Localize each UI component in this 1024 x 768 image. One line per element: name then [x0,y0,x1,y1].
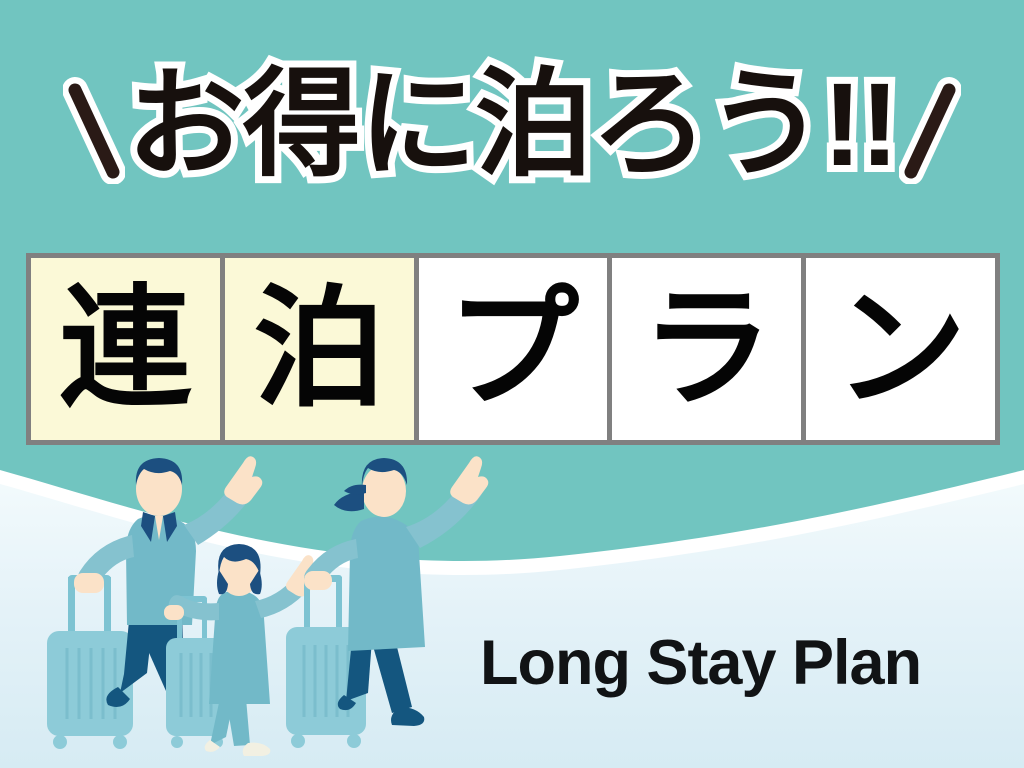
mother-head [334,458,407,517]
headline-text: お得に泊ろう!! [127,66,898,184]
kanji-box-row: 連 泊 プ ラ ン [26,253,1000,445]
child-head [217,544,262,596]
father-head [136,458,182,516]
caption-long-stay-plan: Long Stay Plan [480,632,921,695]
family-illustration [14,455,534,768]
figure-mother [286,456,488,748]
father-pointing-hand [224,456,262,504]
kanji-box-1: 連 [31,258,220,440]
father-left-hand [74,573,104,593]
slash-decoration-left-icon [63,74,125,184]
kanji-box-5: ン [806,258,995,440]
slash-decoration-right-icon [899,74,961,184]
kanji-box-2: 泊 [225,258,414,440]
kanji-box-4: ラ [612,258,801,440]
headline-row: お得に泊ろう!! [0,44,1024,214]
promotional-banner: お得に泊ろう!! 連 泊 プ ラ ン [0,0,1024,768]
kanji-box-3: プ [419,258,608,440]
